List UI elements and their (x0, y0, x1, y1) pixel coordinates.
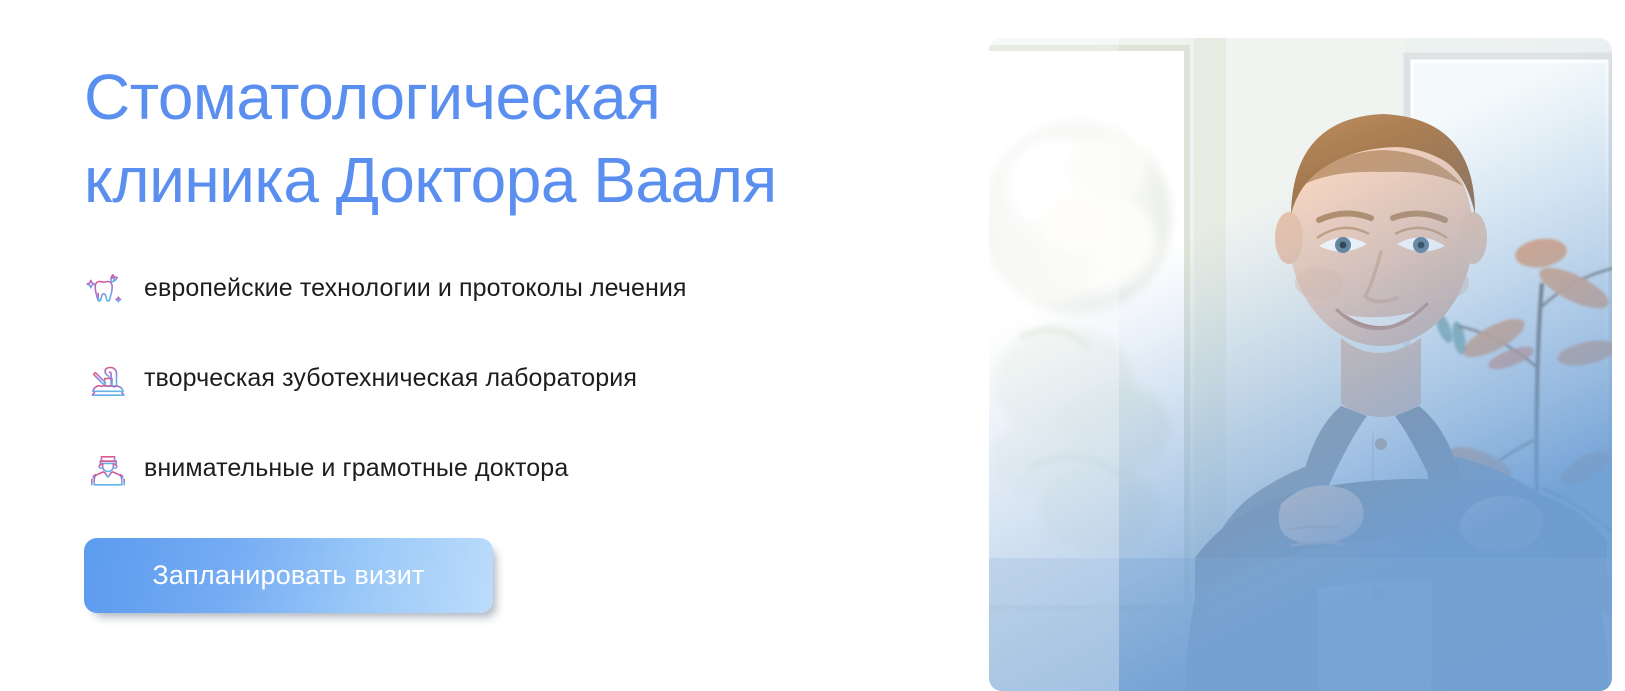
list-item-label: внимательные и грамотные доктора (144, 454, 568, 483)
list-item: внимательные и грамотные доктора (84, 438, 944, 498)
feature-list: европейские технологии и протоколы лечен… (84, 258, 944, 498)
hero-left-column: Стоматологическая клиника Доктора Вааля (84, 0, 964, 691)
page-title: Стоматологическая клиника Доктора Вааля (84, 56, 964, 222)
cta-container: Запланировать визит (84, 538, 493, 613)
tooth-sparkle-icon (84, 264, 132, 312)
dentist-portrait-photo (989, 38, 1612, 691)
list-item-label: творческая зуботехническая лаборатория (144, 364, 637, 393)
hero-section: Стоматологическая клиника Доктора Вааля (0, 0, 1625, 691)
schedule-visit-button[interactable]: Запланировать визит (84, 538, 493, 613)
list-item: творческая зуботехническая лаборатория (84, 348, 944, 408)
dentist-doctor-icon (84, 444, 132, 492)
list-item-label: европейские технологии и протоколы лечен… (144, 274, 687, 303)
dental-lab-icon (84, 354, 132, 402)
list-item: европейские технологии и протоколы лечен… (84, 258, 944, 318)
